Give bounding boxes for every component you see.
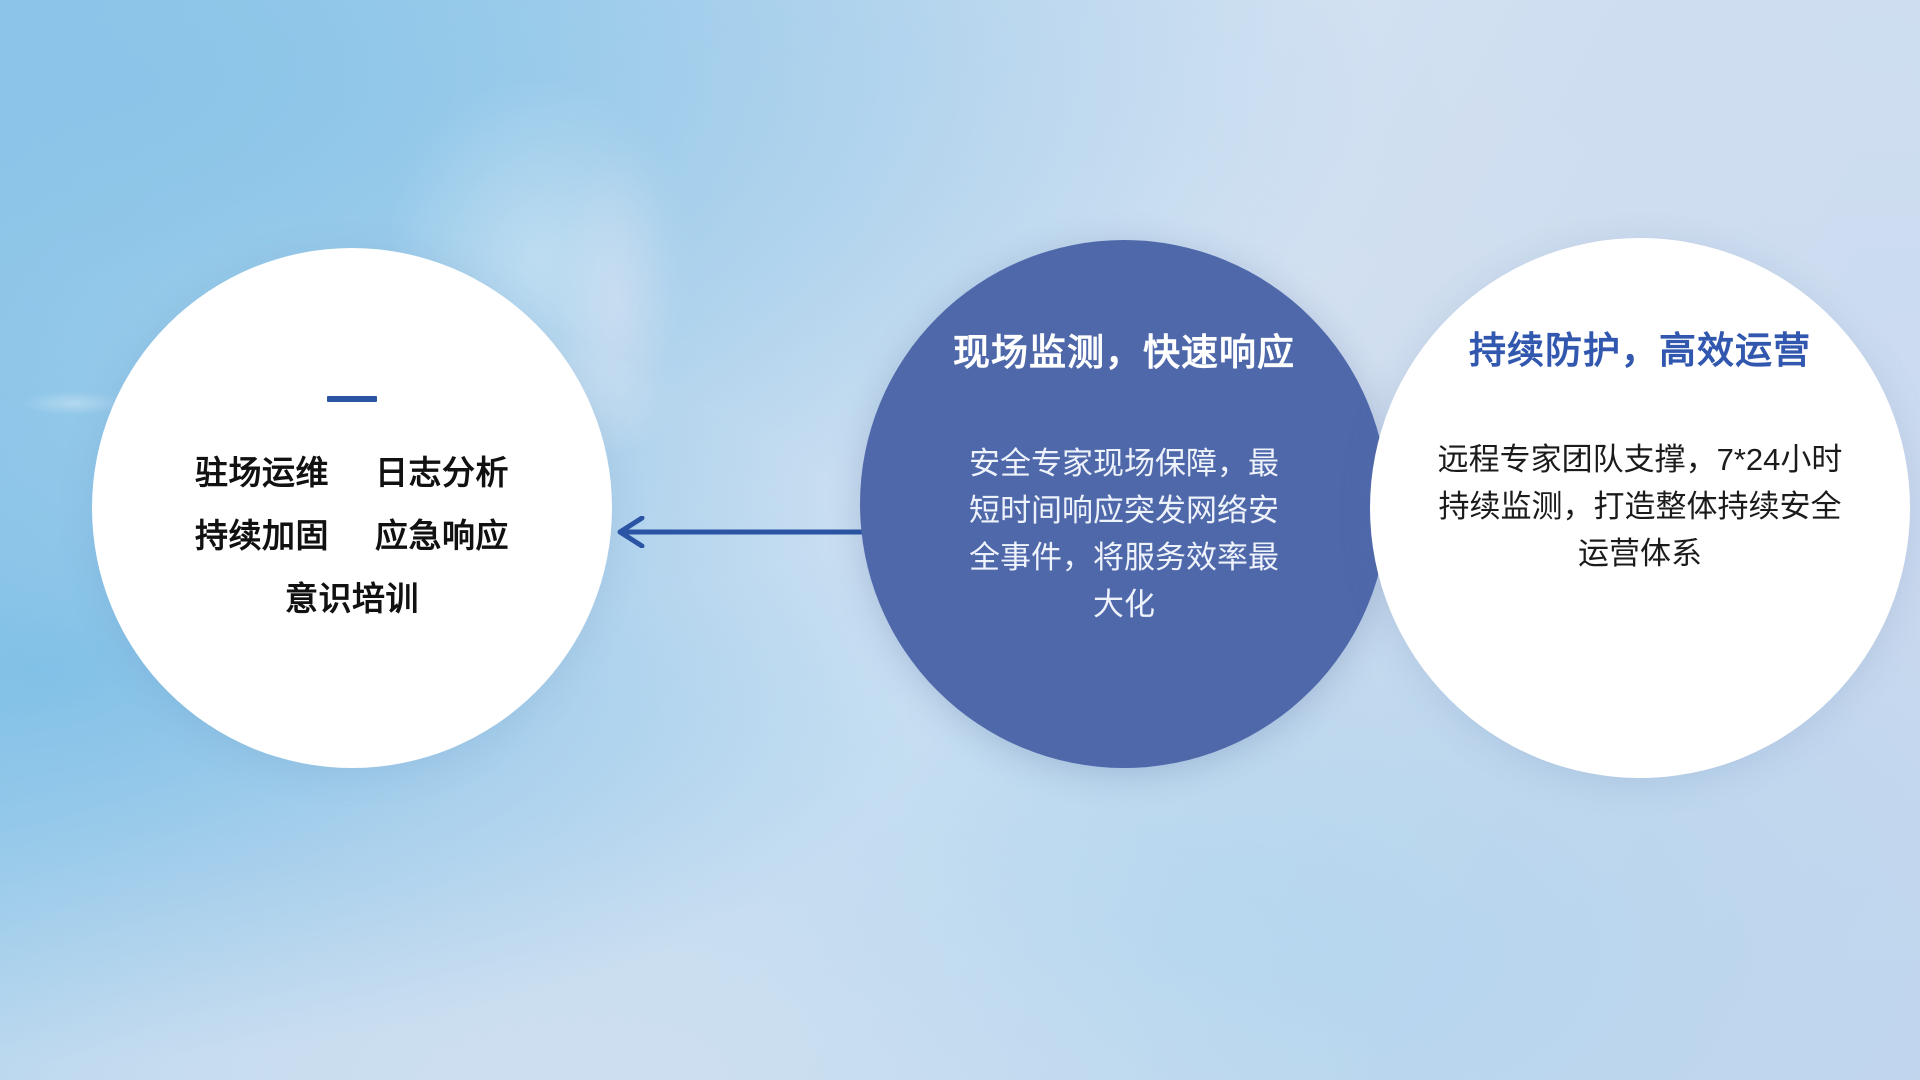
capability-tag: 日志分析 (375, 454, 509, 492)
horizontal-dash-icon (327, 396, 377, 402)
onsite-monitoring-circle: 现场监测，快速响应 安全专家现场保障，最短时间响应突发网络安全事件，将服务效率最… (860, 240, 1388, 768)
arrow-left-icon (620, 518, 898, 546)
continuous-protection-circle: 持续防护，高效运营 远程专家团队支撑，7*24小时持续监测，打造整体持续安全运营… (1370, 238, 1910, 778)
continuous-protection-title: 持续防护，高效运营 (1469, 320, 1811, 374)
onsite-monitoring-body: 安全专家现场保障，最短时间响应突发网络安全事件，将服务效率最大化 (959, 440, 1289, 628)
capability-tag: 持续加固 (195, 517, 329, 555)
capability-tag: 意识培训 (285, 580, 419, 618)
continuous-protection-body: 远程专家团队支撑，7*24小时持续监测，打造整体持续安全运营体系 (1425, 436, 1855, 577)
capability-tag: 驻场运维 (195, 454, 329, 492)
left-arrow-connector (598, 516, 898, 548)
onsite-monitoring-title: 现场监测，快速响应 (953, 322, 1295, 376)
service-capability-tags-circle: 驻场运维 日志分析 持续加固 应急响应 意识培训 (92, 248, 612, 768)
tag-row: 持续加固 应急响应 (195, 517, 509, 555)
tag-row: 意识培训 (285, 580, 419, 618)
left-circle-content: 驻场运维 日志分析 持续加固 应急响应 意识培训 (92, 396, 612, 643)
capability-tag: 应急响应 (375, 517, 509, 555)
slide-canvas: 驻场运维 日志分析 持续加固 应急响应 意识培训 现场监测，快速响应 安全专家现… (0, 0, 1920, 1080)
tag-row: 驻场运维 日志分析 (195, 454, 509, 492)
